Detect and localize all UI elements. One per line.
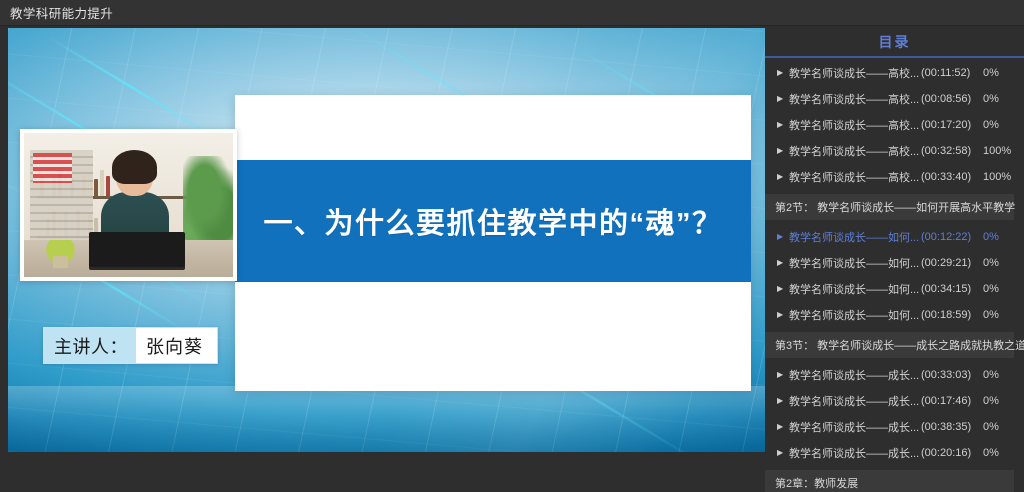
catalog-item-progress: 0% bbox=[983, 119, 1023, 131]
catalog-item-label: 教学名师谈成长——成长... bbox=[789, 419, 921, 435]
speaker-photo bbox=[24, 133, 233, 277]
presenter-hair bbox=[112, 150, 157, 184]
catalog-item-progress: 100% bbox=[983, 171, 1023, 183]
catalog-item-label: 教学名师谈成长——如何... bbox=[789, 281, 921, 297]
catalog-header: 目录 bbox=[765, 28, 1024, 58]
play-triangle-icon: ▶ bbox=[777, 121, 789, 129]
video-course-player-window: 教学科研能力提升 一、为什么要抓住教学中的“魂”？ bbox=[0, 0, 1024, 492]
presenter-nameplate: 主讲人： 张向葵 bbox=[43, 327, 218, 364]
catalog-item-label: 教学名师谈成长——高校... bbox=[789, 65, 921, 81]
catalog-item-duration: (00:38:35) bbox=[921, 421, 983, 433]
catalog-item-progress: 0% bbox=[983, 447, 1023, 459]
catalog-item[interactable]: ▶教学名师谈成长——高校...(00:32:58)100% bbox=[765, 138, 1024, 164]
catalog-item-label: 教学名师谈成长——成长... bbox=[789, 393, 921, 409]
catalog-item-duration: (00:11:52) bbox=[921, 67, 983, 79]
catalog-item[interactable]: ▶教学名师谈成长——高校...(00:08:56)0% bbox=[765, 86, 1024, 112]
catalog-item-duration: (00:12:22) bbox=[921, 231, 983, 243]
catalog-item[interactable]: ▶教学名师谈成长——成长...(00:20:16)0% bbox=[765, 440, 1024, 466]
catalog-item-duration: (00:20:16) bbox=[921, 447, 983, 459]
catalog-item-duration: (00:34:15) bbox=[921, 283, 983, 295]
play-triangle-icon: ▶ bbox=[777, 449, 789, 457]
catalog-item-progress: 0% bbox=[983, 93, 1023, 105]
play-triangle-icon: ▶ bbox=[777, 285, 789, 293]
play-triangle-icon: ▶ bbox=[777, 371, 789, 379]
catalog-item-duration: (00:17:20) bbox=[921, 119, 983, 131]
catalog-title: 目录 bbox=[879, 32, 911, 52]
catalog-item[interactable]: ▶教学名师谈成长——如何...(00:18:59)0% bbox=[765, 302, 1024, 328]
window-title-bar: 教学科研能力提升 bbox=[0, 0, 1024, 26]
play-triangle-icon: ▶ bbox=[777, 311, 789, 319]
play-triangle-icon: ▶ bbox=[777, 423, 789, 431]
catalog-item-duration: (00:32:58) bbox=[921, 145, 983, 157]
play-triangle-icon: ▶ bbox=[777, 233, 789, 241]
catalog-item[interactable]: ▶教学名师谈成长——成长...(00:33:03)0% bbox=[765, 362, 1024, 388]
catalog-section-header[interactable]: 第3节： 教学名师谈成长——成长之路成就执教之道 bbox=[765, 332, 1014, 358]
speaker-video-inset bbox=[20, 129, 237, 281]
catalog-item-duration: (00:33:03) bbox=[921, 369, 983, 381]
catalog-item[interactable]: ▶教学名师谈成长——成长...(00:38:35)0% bbox=[765, 414, 1024, 440]
catalog-item-label: 教学名师谈成长——高校... bbox=[789, 91, 921, 107]
catalog-item-duration: (00:17:46) bbox=[921, 395, 983, 407]
catalog-item-label: 教学名师谈成长——高校... bbox=[789, 143, 921, 159]
catalog-item-label: 教学名师谈成长——高校... bbox=[789, 117, 921, 133]
catalog-item-progress: 0% bbox=[983, 369, 1023, 381]
catalog-item-duration: (00:08:56) bbox=[921, 93, 983, 105]
catalog-item-progress: 0% bbox=[983, 283, 1023, 295]
slide-title-band: 一、为什么要抓住教学中的“魂”？ bbox=[235, 160, 751, 282]
presenter-label: 主讲人： bbox=[44, 328, 136, 363]
catalog-item-progress: 0% bbox=[983, 421, 1023, 433]
catalog-item[interactable]: ▶教学名师谈成长——高校...(00:11:52)0% bbox=[765, 60, 1024, 86]
catalog-item-label: 教学名师谈成长——高校... bbox=[789, 169, 921, 185]
catalog-item-duration: (00:33:40) bbox=[921, 171, 983, 183]
catalog-item[interactable]: ▶教学名师谈成长——如何...(00:34:15)0% bbox=[765, 276, 1024, 302]
play-triangle-icon: ▶ bbox=[777, 259, 789, 267]
catalog-item-label: 教学名师谈成长——成长... bbox=[789, 445, 921, 461]
catalog-item-label: 教学名师谈成长——如何... bbox=[789, 255, 921, 271]
window-title: 教学科研能力提升 bbox=[0, 3, 113, 22]
video-player-surface[interactable]: 一、为什么要抓住教学中的“魂”？ bbox=[8, 28, 765, 452]
play-triangle-icon: ▶ bbox=[777, 95, 789, 103]
catalog-item[interactable]: ▶教学名师谈成长——高校...(00:17:20)0% bbox=[765, 112, 1024, 138]
play-triangle-icon: ▶ bbox=[777, 69, 789, 77]
catalog-item[interactable]: ▶教学名师谈成长——高校...(00:33:40)100% bbox=[765, 164, 1024, 190]
catalog-section-header[interactable]: 第2章：教师发展 bbox=[765, 470, 1014, 492]
slide-title-text: 一、为什么要抓住教学中的“魂”？ bbox=[263, 200, 722, 242]
catalog-item-progress: 0% bbox=[983, 231, 1023, 243]
catalog-item-label: 教学名师谈成长——如何... bbox=[789, 307, 921, 323]
catalog-item-progress: 0% bbox=[983, 395, 1023, 407]
catalog-section-header[interactable]: 第2节： 教学名师谈成长——如何开展高水平教学 bbox=[765, 194, 1014, 220]
catalog-item-duration: (00:29:21) bbox=[921, 257, 983, 269]
flower-pot bbox=[43, 240, 79, 269]
catalog-item-progress: 100% bbox=[983, 145, 1023, 157]
play-triangle-icon: ▶ bbox=[777, 173, 789, 181]
course-catalog-sidebar: 目录 ▶教学名师谈成长——高校...(00:11:52)0%▶教学名师谈成长——… bbox=[765, 28, 1024, 492]
presenter-name: 张向葵 bbox=[136, 328, 217, 363]
catalog-item-progress: 0% bbox=[983, 257, 1023, 269]
catalog-item[interactable]: ▶教学名师谈成长——如何...(00:12:22)0% bbox=[765, 224, 1024, 250]
laptop bbox=[89, 232, 185, 267]
catalog-item-label: 教学名师谈成长——成长... bbox=[789, 367, 921, 383]
play-triangle-icon: ▶ bbox=[777, 397, 789, 405]
catalog-item-progress: 0% bbox=[983, 67, 1023, 79]
catalog-item-duration: (00:18:59) bbox=[921, 309, 983, 321]
catalog-item-progress: 0% bbox=[983, 309, 1023, 321]
catalog-item[interactable]: ▶教学名师谈成长——如何...(00:29:21)0% bbox=[765, 250, 1024, 276]
play-triangle-icon: ▶ bbox=[777, 147, 789, 155]
catalog-list[interactable]: ▶教学名师谈成长——高校...(00:11:52)0%▶教学名师谈成长——高校.… bbox=[765, 58, 1024, 492]
catalog-item-label: 教学名师谈成长——如何... bbox=[789, 229, 921, 245]
catalog-item[interactable]: ▶教学名师谈成长——成长...(00:17:46)0% bbox=[765, 388, 1024, 414]
plant-decoration bbox=[183, 156, 233, 245]
